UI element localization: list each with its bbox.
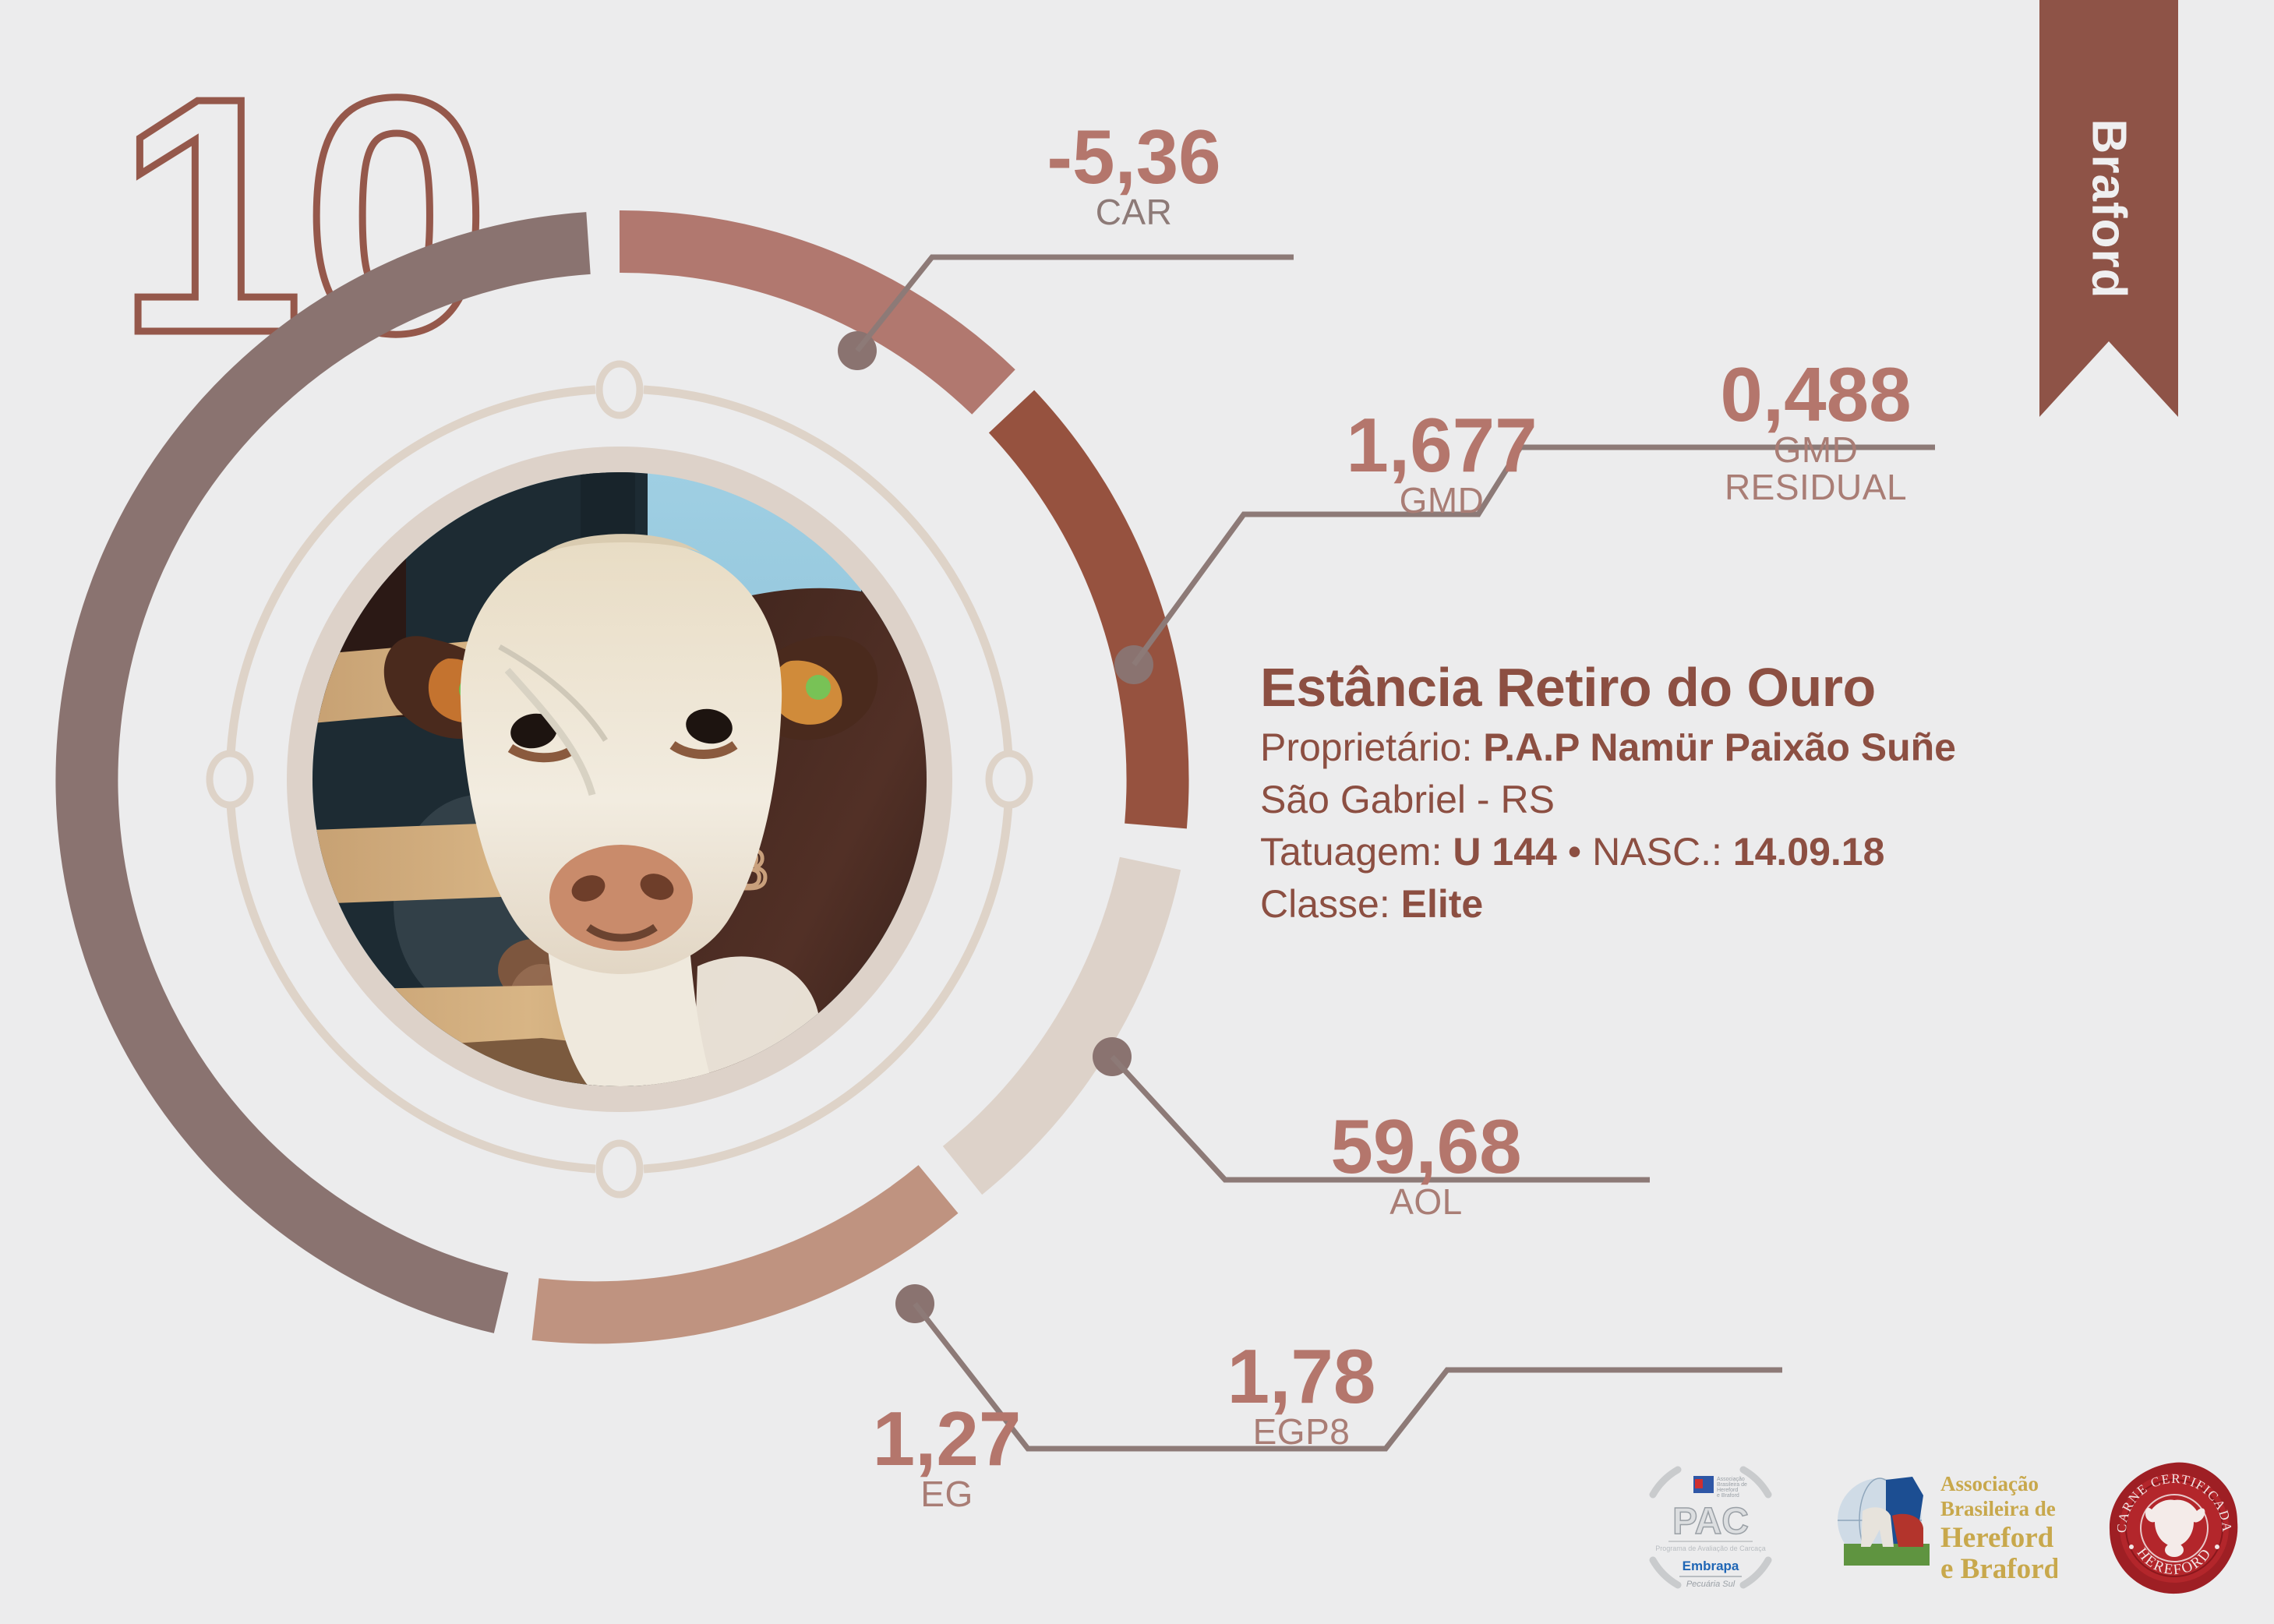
callout-aol-value: 59,68	[1278, 1110, 1574, 1183]
segment-gmd	[1012, 411, 1158, 826]
ribbon-breed-label: Braford	[2082, 118, 2137, 298]
birth-value: 14.09.18	[1733, 830, 1885, 874]
dot-gmd	[1114, 645, 1153, 684]
abhb-line-4: e Braford	[1940, 1553, 2057, 1585]
callout-gmd-residual-value: 0,488	[1668, 358, 1964, 431]
owner-row: Proprietário: P.A.P Namür Paixão Suñe	[1260, 722, 2133, 772]
dot-aol	[1093, 1037, 1132, 1076]
owner-label: Proprietário:	[1260, 726, 1472, 769]
farm-name: Estância Retiro do Ouro	[1260, 658, 2133, 716]
owner-value: P.A.P Namür Paixão Suñe	[1483, 726, 1956, 769]
callout-eg-value: 1,27	[818, 1403, 1075, 1475]
callout-car: -5,36 CAR	[978, 121, 1290, 231]
callout-gmd-residual-label-1: GMD	[1668, 431, 1964, 468]
tattoo-value: U 144	[1453, 830, 1556, 874]
dot-car	[838, 331, 877, 370]
callout-car-label: CAR	[978, 193, 1290, 231]
callout-aol: 59,68 AOL	[1278, 1110, 1574, 1220]
callout-gmd-residual-label-2: RESIDUAL	[1668, 468, 1964, 506]
callout-car-value: -5,36	[978, 121, 1290, 193]
callout-eg-label: EG	[818, 1475, 1075, 1513]
embrapa-wordmark: Embrapa	[1683, 1559, 1739, 1573]
pac-logo: Associação Brasileira de Hereford e Braf…	[1633, 1449, 1788, 1605]
abhb-line-2: Brasileira de	[1940, 1497, 2056, 1520]
pac-tagline: Programa de Avaliação de Carcaça	[1655, 1545, 1765, 1552]
callout-aol-label: AOL	[1278, 1183, 1574, 1220]
segment-egp8	[535, 1189, 938, 1312]
callout-egp8: 1,78 EGP8	[1169, 1340, 1434, 1450]
abhb-line-1: Associação	[1940, 1472, 2039, 1495]
dot-eg	[895, 1284, 934, 1323]
abhb-line-3: Hereford	[1940, 1522, 2054, 1554]
callout-gmd-residual: 0,488 GMD RESIDUAL	[1668, 358, 1964, 507]
hereford-seal-logo: CARNE CERTIFICADA HEREFORD	[2100, 1453, 2248, 1601]
callout-egp8-label: EGP8	[1169, 1413, 1434, 1450]
abhb-logo: Associação Brasileira de Hereford e Braf…	[1831, 1460, 2057, 1596]
pac-acronym: PAC	[1672, 1501, 1749, 1542]
class-value: Elite	[1401, 882, 1484, 926]
poster-canvas: 10 Braford	[0, 0, 2274, 1624]
callout-gmd: 1,677 GMD	[1309, 409, 1574, 519]
svg-text:e Braford: e Braford	[1717, 1493, 1739, 1499]
tattoo-birth-row: Tatuagem: U 144 • NASC.: 14.09.18	[1260, 827, 2133, 877]
tattoo-label: Tatuagem:	[1260, 830, 1442, 874]
performance-donut: B	[43, 203, 1196, 1356]
callout-gmd-value: 1,677	[1309, 409, 1574, 482]
segment-car	[620, 242, 994, 392]
callout-eg: 1,27 EG	[818, 1403, 1075, 1513]
birth-label: NASC.:	[1592, 830, 1722, 874]
breed-ribbon: Braford	[2039, 0, 2178, 417]
embrapa-sub: Pecuária Sul	[1686, 1580, 1736, 1589]
svg-text:Hereford: Hereford	[1717, 1488, 1738, 1493]
animal-info-block: Estância Retiro do Ouro Proprietário: P.…	[1260, 658, 2133, 931]
class-label: Classe:	[1260, 882, 1390, 926]
footer-logos: Associação Brasileira de Hereford e Braf…	[1633, 1446, 2248, 1609]
row-separator: •	[1568, 830, 1582, 874]
svg-text:Brasileira de: Brasileira de	[1717, 1482, 1747, 1488]
location-row: São Gabriel - RS	[1260, 775, 2133, 824]
callout-egp8-value: 1,78	[1169, 1340, 1434, 1413]
class-row: Classe: Elite	[1260, 879, 2133, 929]
svg-text:Associação: Associação	[1717, 1477, 1745, 1482]
